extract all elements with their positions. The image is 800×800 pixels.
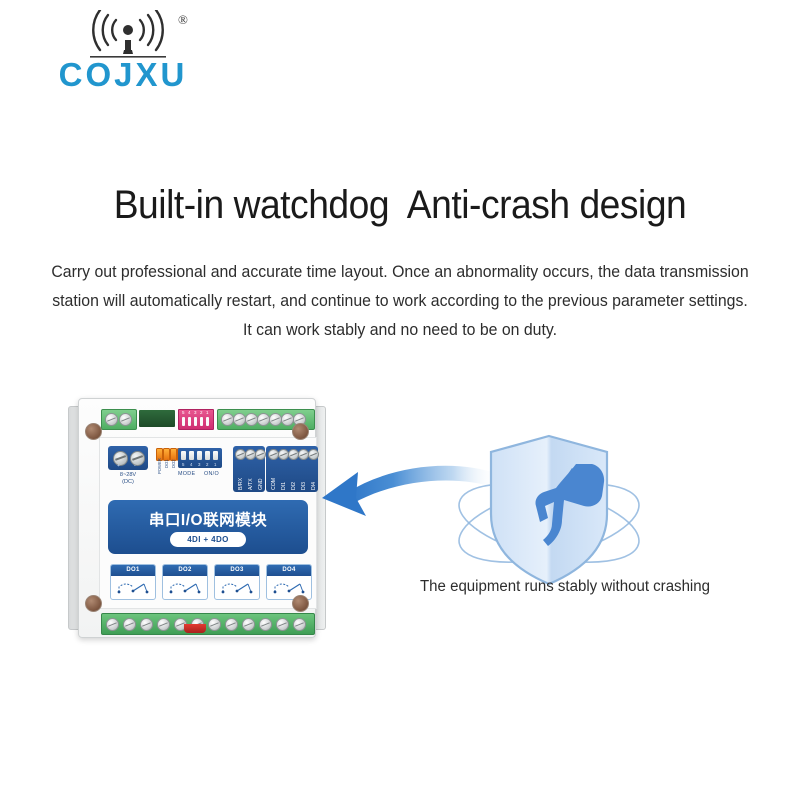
brand-wordmark: COJXU <box>28 56 218 94</box>
power-voltage-label: 8~28V <box>104 472 152 479</box>
device-bottom-connectors <box>101 613 315 635</box>
terminal-label-brx: B/RX <box>238 478 244 490</box>
product-device-image: 543 21 + - 8~28V (DC) <box>68 392 324 644</box>
relay-label-do2: DO2 <box>163 565 207 576</box>
relay-schematic-icon <box>113 577 153 597</box>
terminal-label-di2: DI2 <box>291 482 297 490</box>
terminal-label-di3: DI3 <box>301 482 307 490</box>
mounting-screw-br <box>292 595 309 612</box>
terminal-label-gnd: GND <box>258 478 264 490</box>
relay-schematic-icon <box>165 577 205 597</box>
product-spec-text: 4DI + 4DO <box>170 532 246 547</box>
terminal-label-com: COM <box>271 478 277 490</box>
relay-label-do1: DO1 <box>111 565 155 576</box>
dip-num-3: 3 <box>198 462 200 467</box>
relay-label-do4: DO4 <box>267 565 311 576</box>
wifi-signal-icon <box>80 10 176 62</box>
description-paragraph: Carry out professional and accurate time… <box>47 258 754 345</box>
terminal-label-atx: A/TX <box>248 478 254 490</box>
relay-schematic-icon <box>269 577 309 597</box>
page-title: Built-in watchdog Anti-crash design <box>28 183 772 228</box>
top-dip-switch: 543 21 <box>178 409 214 430</box>
mode-dip-switch[interactable]: 5 4 3 2 1 <box>178 448 222 468</box>
mounting-screw-bl <box>85 595 102 612</box>
shield-caption: The equipment runs stably without crashi… <box>337 578 793 596</box>
led-label-power: POWER <box>157 458 162 474</box>
brand-logo: ® COJXU <box>28 8 218 96</box>
device-top-connectors: 543 21 <box>101 407 313 429</box>
relay-box-do2: DO2 <box>162 564 208 600</box>
power-plus-label: + <box>117 463 120 469</box>
power-connector-block <box>101 409 137 430</box>
serial-terminal-group: B/RX A/TX GND <box>233 446 265 492</box>
relay-box-do4: DO4 <box>266 564 312 600</box>
din-rail-clip <box>184 624 206 633</box>
mounting-screw-tr <box>292 423 309 440</box>
dip-mode-label: MODE <box>178 471 195 477</box>
product-name-text: 串口I/O联网模块 <box>108 508 308 530</box>
led-label-do2: DO2 <box>171 459 176 468</box>
dip-num-1: 1 <box>214 462 216 467</box>
relay-label-do3: DO3 <box>215 565 259 576</box>
power-minus-label: - <box>134 463 136 469</box>
io-terminal-group: COM DI1 DI2 DI3 DI4 <box>266 446 318 492</box>
dip-on-label: ON/O <box>204 471 219 477</box>
power-terminal: + - <box>108 446 148 470</box>
relay-schematic-icon <box>217 577 257 597</box>
product-name-banner: 串口I/O联网模块 4DI + 4DO <box>108 500 308 554</box>
power-type-label: (DC) <box>104 479 152 486</box>
dip-num-4: 4 <box>190 462 192 467</box>
relay-box-do1: DO1 <box>110 564 156 600</box>
device-housing: 543 21 + - 8~28V (DC) <box>78 398 316 638</box>
device-front-panel: + - 8~28V (DC) POWER DO1 DO2 DO3 DO4 5 4 <box>99 437 317 609</box>
dark-connector-block <box>139 410 175 427</box>
relay-box-do3: DO3 <box>214 564 260 600</box>
terminal-label-di1: DI1 <box>281 482 287 490</box>
dip-num-2: 2 <box>206 462 208 467</box>
dip-num-5: 5 <box>182 462 184 467</box>
registered-trademark-symbol: ® <box>178 12 188 28</box>
mounting-screw-tl <box>85 423 102 440</box>
product-spec-badge: 4DI + 4DO <box>170 532 246 547</box>
led-label-do1: DO1 <box>164 459 169 468</box>
